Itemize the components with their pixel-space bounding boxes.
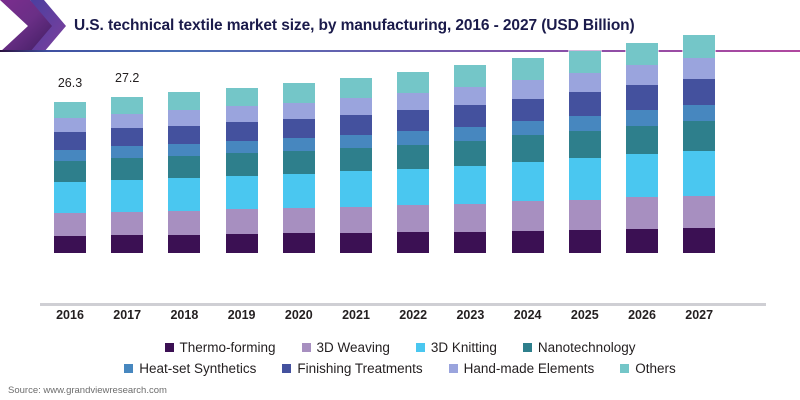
bar-segment (226, 88, 258, 106)
bar-segment (683, 228, 715, 253)
bar-segment (54, 102, 86, 118)
bar-segment (226, 209, 258, 234)
bar-segment (340, 207, 372, 233)
legend-item[interactable]: 3D Weaving (302, 340, 390, 355)
x-axis-label-2020: 2020 (274, 308, 324, 322)
legend-item[interactable]: Thermo-forming (165, 340, 276, 355)
bar-segment (54, 161, 86, 182)
legend-swatch-icon (124, 364, 133, 373)
chart-page: U.S. technical textile market size, by m… (0, 0, 800, 400)
bar-segment (111, 158, 143, 179)
bar-segment (569, 73, 601, 93)
bar-segment (569, 200, 601, 230)
bar-segment (569, 51, 601, 73)
bar-segment (111, 180, 143, 212)
bar-segment (683, 151, 715, 196)
value-label-2016: 26.3 (40, 76, 100, 90)
bar-segment (512, 99, 544, 121)
x-axis-label-2026: 2026 (617, 308, 667, 322)
legend-label: Nanotechnology (538, 340, 636, 355)
bar-segment (683, 58, 715, 79)
bar-segment (397, 232, 429, 253)
bar-segment (569, 116, 601, 131)
bar-segment (340, 135, 372, 148)
bar-segment (340, 98, 372, 115)
legend-label: Heat-set Synthetics (139, 361, 256, 376)
bar-2020[interactable] (283, 83, 315, 253)
legend-item[interactable]: Heat-set Synthetics (124, 361, 256, 376)
x-axis-label-2027: 2027 (674, 308, 724, 322)
bar-segment (626, 85, 658, 110)
x-axis-label-2021: 2021 (331, 308, 381, 322)
x-axis-labels: 2016201720182019202020212022202320242025… (0, 308, 800, 332)
bar-segment (54, 150, 86, 161)
legend-label: Others (635, 361, 676, 376)
legend-label: 3D Weaving (317, 340, 390, 355)
bar-2027[interactable] (683, 35, 715, 253)
legend-item[interactable]: Nanotechnology (523, 340, 636, 355)
bar-segment (111, 235, 143, 253)
bar-segment (340, 115, 372, 135)
bar-segment (168, 178, 200, 211)
bar-segment (626, 229, 658, 253)
legend-swatch-icon (449, 364, 458, 373)
legend-item[interactable]: 3D Knitting (416, 340, 497, 355)
bar-segment (54, 213, 86, 236)
bar-segment (683, 196, 715, 229)
x-axis-label-2017: 2017 (102, 308, 152, 322)
bar-segment (111, 128, 143, 146)
bar-2025[interactable] (569, 51, 601, 253)
bar-2021[interactable] (340, 78, 372, 253)
bar-segment (54, 118, 86, 132)
bar-segment (454, 65, 486, 87)
bar-segment (283, 103, 315, 119)
bar-2018[interactable] (168, 92, 200, 253)
legend-label: Finishing Treatments (297, 361, 422, 376)
bar-segment (226, 176, 258, 210)
bar-segment (683, 79, 715, 105)
bar-segment (168, 156, 200, 178)
bar-segment (54, 132, 86, 149)
bar-segment (512, 201, 544, 230)
bar-segment (569, 131, 601, 159)
bar-segment (454, 87, 486, 105)
x-axis-label-2022: 2022 (388, 308, 438, 322)
value-label-2017: 27.2 (97, 71, 157, 85)
bar-segment (683, 105, 715, 121)
bar-segment (111, 212, 143, 236)
bar-segment (626, 110, 658, 126)
bar-segment (340, 171, 372, 207)
x-axis-label-2025: 2025 (560, 308, 610, 322)
header-gradient-rule (0, 50, 800, 52)
bar-segment (226, 122, 258, 141)
legend-label: Thermo-forming (180, 340, 276, 355)
legend-row-top: Thermo-forming3D Weaving3D KnittingNanot… (0, 337, 800, 357)
bar-segment (626, 197, 658, 229)
bar-segment (512, 121, 544, 135)
bar-segment (283, 233, 315, 253)
bar-segment (454, 141, 486, 166)
bar-segment (168, 144, 200, 156)
legend-item[interactable]: Finishing Treatments (282, 361, 422, 376)
bar-2024[interactable] (512, 58, 544, 253)
bar-segment (569, 158, 601, 199)
bar-segment (340, 78, 372, 98)
x-axis-label-2024: 2024 (503, 308, 553, 322)
bar-segment (168, 235, 200, 253)
legend-swatch-icon (165, 343, 174, 352)
bar-2016[interactable] (54, 102, 86, 253)
source-caption: Source: www.grandviewresearch.com (8, 385, 167, 396)
x-axis-label-2023: 2023 (445, 308, 495, 322)
bar-segment (626, 126, 658, 155)
bar-segment (512, 231, 544, 253)
bar-segment (226, 106, 258, 122)
bar-segment (283, 208, 315, 233)
bar-segment (54, 236, 86, 253)
bar-segment (626, 43, 658, 65)
bar-segment (512, 58, 544, 80)
bar-2023[interactable] (454, 65, 486, 253)
bar-segment (168, 126, 200, 144)
chart-legend: Thermo-forming3D Weaving3D KnittingNanot… (0, 337, 800, 381)
legend-item[interactable]: Hand-made Elements (449, 361, 595, 376)
bar-segment (226, 234, 258, 253)
legend-swatch-icon (302, 343, 311, 352)
chart-header: U.S. technical textile market size, by m… (0, 0, 800, 52)
bar-segment (168, 92, 200, 110)
bar-segment (168, 110, 200, 126)
bar-segment (626, 154, 658, 197)
legend-swatch-icon (523, 343, 532, 352)
bar-segment (454, 232, 486, 253)
bar-segment (454, 105, 486, 127)
legend-label: 3D Knitting (431, 340, 497, 355)
header-chevron-decoration (0, 0, 66, 52)
x-axis-label-2016: 2016 (45, 308, 95, 322)
legend-swatch-icon (620, 364, 629, 373)
bar-segment (226, 153, 258, 175)
bar-segment (397, 93, 429, 110)
bar-segment (111, 146, 143, 158)
bar-segment (283, 174, 315, 208)
chevron-graphic (0, 0, 66, 52)
bar-segment (340, 148, 372, 172)
bar-segment (683, 35, 715, 58)
bar-segment (512, 135, 544, 161)
bar-segment (54, 182, 86, 213)
bar-segment (111, 114, 143, 129)
chart-area: 26.327.2 2016201720182019202020212022202… (0, 56, 800, 376)
legend-row-bottom: Heat-set SyntheticsFinishing TreatmentsH… (0, 358, 800, 378)
bar-segment (683, 121, 715, 151)
bar-segment (397, 110, 429, 131)
bar-segment (397, 169, 429, 206)
bar-segment (454, 127, 486, 141)
bar-segment (168, 211, 200, 235)
x-axis-label-2018: 2018 (159, 308, 209, 322)
bar-segment (397, 131, 429, 145)
bar-segment (397, 145, 429, 169)
bar-2017[interactable] (111, 97, 143, 253)
bar-segment (111, 97, 143, 114)
axis-baseline (40, 303, 766, 306)
bar-segment (283, 138, 315, 151)
bar-segment (569, 92, 601, 116)
plot-area: 26.327.2 (0, 56, 800, 306)
bar-segment (397, 72, 429, 93)
bar-segment (512, 162, 544, 202)
bar-2026[interactable] (626, 43, 658, 253)
bar-segment (340, 233, 372, 253)
bar-segment (283, 83, 315, 103)
bar-segment (283, 119, 315, 139)
bar-segment (626, 65, 658, 85)
bar-segment (397, 205, 429, 232)
bar-segment (283, 151, 315, 174)
bar-segment (454, 204, 486, 232)
bar-segment (569, 230, 601, 253)
legend-item[interactable]: Others (620, 361, 676, 376)
bar-segment (454, 166, 486, 204)
legend-swatch-icon (282, 364, 291, 373)
bar-2022[interactable] (397, 72, 429, 253)
bar-segment (512, 80, 544, 98)
bar-2019[interactable] (226, 88, 258, 253)
legend-label: Hand-made Elements (464, 361, 595, 376)
legend-swatch-icon (416, 343, 425, 352)
bar-segment (226, 141, 258, 154)
x-axis-label-2019: 2019 (217, 308, 267, 322)
